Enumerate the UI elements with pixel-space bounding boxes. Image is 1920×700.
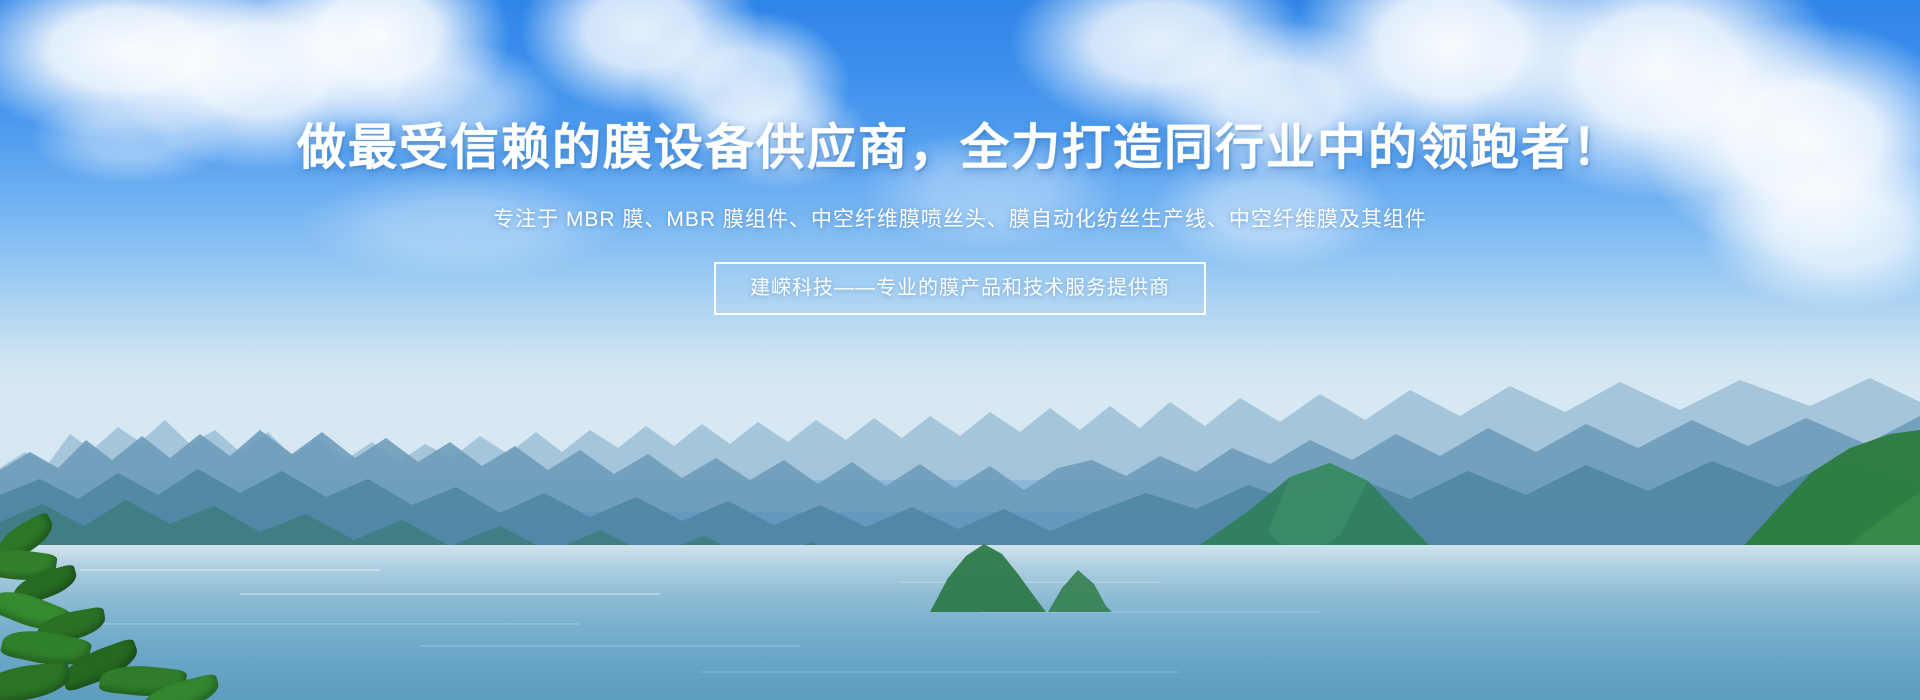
- hero-text-block: 做最受信赖的膜设备供应商，全力打造同行业中的领跑者！ 专注于 MBR 膜、MBR…: [0, 0, 1920, 315]
- water-reflection-streak: [700, 671, 1180, 673]
- hero-banner: 做最受信赖的膜设备供应商，全力打造同行业中的领跑者！ 专注于 MBR 膜、MBR…: [0, 0, 1920, 700]
- foreground-foliage: [0, 516, 220, 700]
- page-title: 做最受信赖的膜设备供应商，全力打造同行业中的领跑者！: [0, 0, 1920, 178]
- water-reflection-streak: [420, 645, 800, 647]
- tagline-badge: 建嵘科技——专业的膜产品和技术服务提供商: [714, 262, 1206, 315]
- river-island: [0, 522, 1920, 612]
- tagline-container: 建嵘科技——专业的膜产品和技术服务提供商: [0, 262, 1920, 315]
- page-subtitle: 专注于 MBR 膜、MBR 膜组件、中空纤维膜喷丝头、膜自动化纺丝生产线、中空纤…: [0, 178, 1920, 236]
- leaf-shape: [0, 661, 72, 700]
